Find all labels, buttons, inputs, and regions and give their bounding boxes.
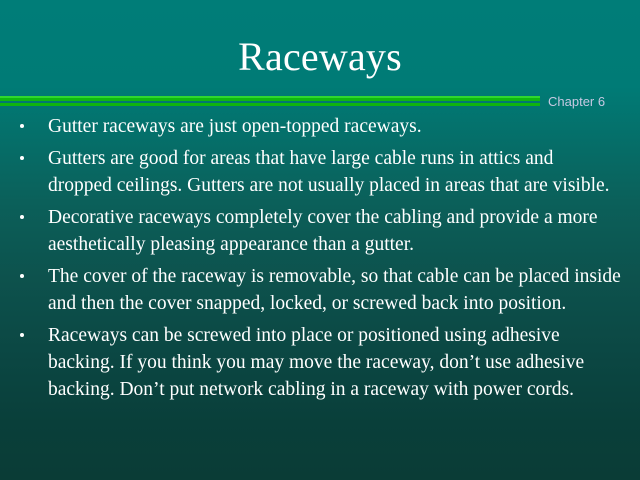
list-item: Gutters are good for areas that have lar… [0,145,640,199]
list-item-text: Gutter raceways are just open-topped rac… [48,113,622,140]
bullet-dot-icon [20,274,24,278]
list-item: Raceways can be screwed into place or po… [0,322,640,403]
bullet-dot-icon [20,215,24,219]
list-item: The cover of the raceway is removable, s… [0,263,640,317]
list-item-text: Gutters are good for areas that have lar… [48,145,622,199]
slide-body-bullet-list: Gutter raceways are just open-topped rac… [0,113,640,408]
list-item-text: The cover of the raceway is removable, s… [48,263,622,317]
list-item: Gutter raceways are just open-topped rac… [0,113,640,140]
divider-line-lower [0,103,540,106]
list-item: Decorative raceways completely cover the… [0,204,640,258]
list-item-text: Raceways can be screwed into place or po… [48,322,622,403]
page-title: Raceways [0,33,640,81]
list-item-text: Decorative raceways completely cover the… [48,204,622,258]
title-divider-rule [0,96,540,107]
bullet-dot-icon [20,124,24,128]
bullet-dot-icon [20,156,24,160]
slide-title-area: Raceways [0,0,640,92]
presentation-slide: Raceways Chapter 6 Gutter raceways are j… [0,0,640,480]
chapter-label: Chapter 6 [548,94,605,110]
divider-line-main [0,98,540,101]
bullet-dot-icon [20,333,24,337]
